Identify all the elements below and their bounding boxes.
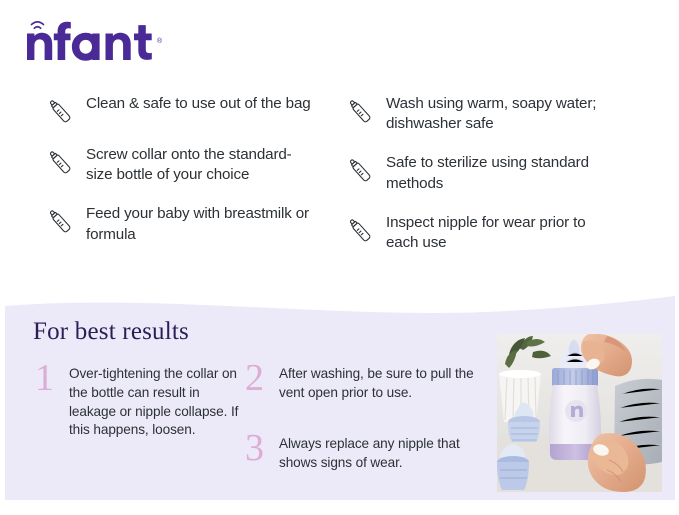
nfant-logotype-icon: [24, 16, 194, 64]
tip-text: Always replace any nipple that shows sig…: [279, 430, 494, 473]
feature-column-right: Wash using warm, soapy water; dishwasher…: [348, 94, 648, 272]
tip-item: 2 After washing, be sure to pull the ven…: [245, 360, 495, 403]
tip-item: 1 Over-tightening the collar on the bott…: [35, 360, 250, 440]
feature-item: Screw collar onto the standard-size bott…: [48, 145, 348, 185]
tip-text: After washing, be sure to pull the vent …: [279, 360, 494, 403]
tip-number: 3: [245, 430, 275, 466]
baby-bottle-icon: [48, 147, 76, 177]
feature-item: Feed your baby with breastmilk or formul…: [48, 204, 348, 244]
tip-item: 3 Always replace any nipple that shows s…: [245, 430, 495, 473]
feature-item: Wash using warm, soapy water; dishwasher…: [348, 94, 648, 134]
best-results-panel: For best results 1 Over-tightening the c…: [5, 292, 675, 500]
tip-number: 1: [35, 360, 65, 396]
registered-trademark-mark: ®: [157, 38, 162, 45]
feature-text: Inspect nipple for wear prior to each us…: [386, 213, 616, 253]
tip-number: 2: [245, 360, 275, 396]
feature-text: Wash using warm, soapy water; dishwasher…: [386, 94, 616, 134]
baby-bottle-icon: [348, 96, 376, 126]
panel-heading: For best results: [33, 318, 189, 346]
feature-item: Inspect nipple for wear prior to each us…: [348, 213, 648, 253]
baby-bottle-icon: [348, 155, 376, 185]
feature-list-section: Clean & safe to use out of the bag Screw…: [0, 94, 679, 289]
page-root: ® Clean & safe to use out of the bag: [0, 0, 679, 515]
tip-text: Over-tightening the collar on the bottle…: [69, 360, 239, 440]
feature-item: Safe to sterilize using standard methods: [348, 153, 648, 193]
brand-logo: ®: [24, 16, 194, 64]
product-photo-hands-holding-bottle: [497, 334, 662, 492]
feature-column-left: Clean & safe to use out of the bag Screw…: [48, 94, 348, 264]
baby-bottle-icon: [348, 215, 376, 245]
feature-text: Screw collar onto the standard-size bott…: [86, 145, 316, 185]
feature-text: Safe to sterilize using standard methods: [386, 153, 616, 193]
tips-list: 1 Over-tightening the collar on the bott…: [27, 358, 497, 488]
feature-item: Clean & safe to use out of the bag: [48, 94, 348, 126]
baby-bottle-icon: [48, 96, 76, 126]
baby-bottle-icon: [48, 206, 76, 236]
feature-text: Feed your baby with breastmilk or formul…: [86, 204, 316, 244]
feature-text: Clean & safe to use out of the bag: [86, 94, 311, 114]
